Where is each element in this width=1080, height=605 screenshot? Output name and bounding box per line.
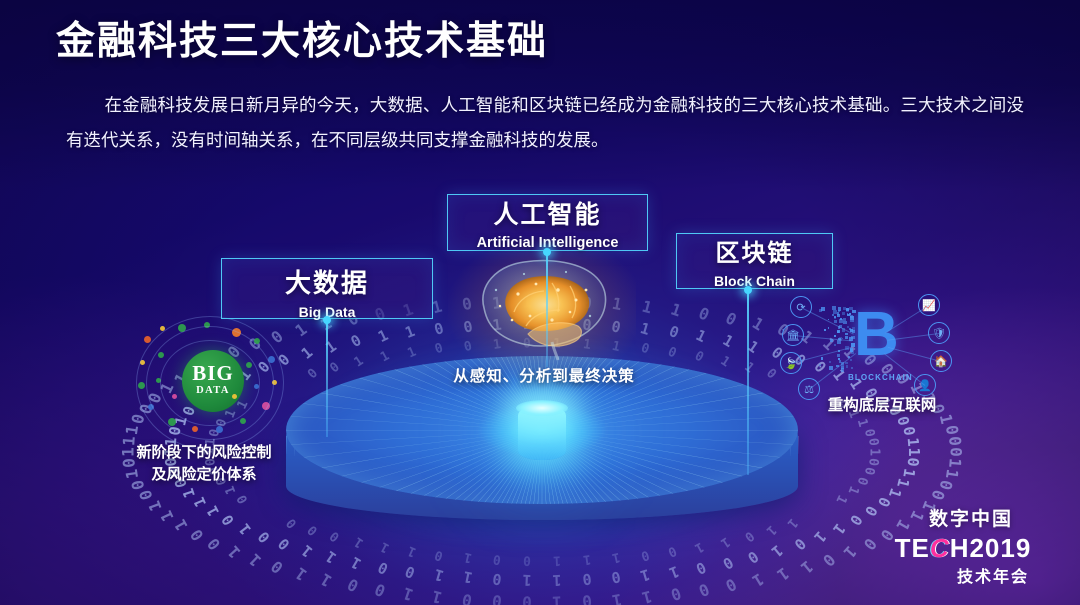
blockchain-pixel [832, 314, 834, 316]
blockchain-icon-cluster: B BLOCKCHAIN ⟳🏛🍃⚖📈🛡🏠👤 [796, 298, 952, 402]
blockchain-pixel [845, 362, 847, 364]
logo-tech-glitch-c: C [930, 533, 950, 563]
binary-digit: 1 [179, 485, 199, 499]
binary-digit: 0 [874, 494, 894, 509]
blockchain-pixel [829, 366, 833, 370]
blockchain-pixel [846, 308, 849, 311]
blockchain-pixel [837, 314, 840, 317]
logo-tech-2019: TECH2019 [888, 535, 1038, 561]
blockchain-pixel [838, 310, 840, 312]
blockchain-pixel [850, 320, 852, 322]
blockchain-pixel [821, 357, 823, 359]
label-ai-cn: 人工智能 [448, 203, 647, 228]
blockchain-pixel [834, 344, 836, 346]
disc-core-cap [516, 400, 568, 416]
connector-line-blockchain [747, 289, 749, 475]
binary-digit: 1 [156, 507, 177, 524]
binary-digit: 0 [947, 447, 966, 457]
binary-digit: 0 [928, 488, 949, 503]
slide-canvas: 1011100011010001100110110011100101110001… [0, 0, 1080, 605]
blockchain-pixel [819, 364, 821, 366]
label-box-artificial-intelligence[interactable]: 人工智能 Artificial Intelligence [447, 194, 648, 251]
big-data-orbit-ring [136, 316, 284, 450]
caption-block-chain: 重构底层互联网 [790, 395, 974, 417]
connector-line-ai [546, 251, 548, 367]
conference-logo: 数字中国 TECH2019 技术年会 [896, 504, 1046, 587]
connector-dot-blockchain [744, 286, 752, 294]
blockchain-pixel [837, 354, 839, 356]
label-block-chain-en: Block Chain [677, 274, 832, 288]
binary-digit: 1 [893, 476, 913, 489]
binary-digit: 1 [145, 498, 166, 514]
blockchain-pixel [821, 307, 825, 311]
binary-digit: 0 [941, 424, 961, 436]
brain-glow [448, 236, 636, 378]
blockchain-pixel [824, 329, 826, 331]
logo-tech-after: H2019 [950, 533, 1032, 563]
central-platform-disc [268, 356, 816, 586]
binary-digit: 1 [903, 436, 922, 446]
logo-line-annual-conference: 技术年会 [918, 563, 1068, 587]
caption-big-data-line2: 及风险定价体系 [106, 464, 302, 486]
blockchain-pixel [847, 326, 849, 328]
blockchain-pixel [834, 317, 836, 319]
bitcoin-b-glyph: B [854, 304, 899, 366]
body-paragraph: 在金融科技发展日新月异的今天，大数据、人工智能和区块链已经成为金融科技的三大核心… [66, 88, 1024, 158]
blockchain-link-line [809, 353, 856, 390]
binary-digit: 0 [945, 436, 965, 447]
blockchain-pixel [828, 327, 830, 329]
brain-icon [466, 250, 618, 362]
label-box-block-chain[interactable]: 区块链 Block Chain [676, 233, 833, 289]
blockchain-pixel [851, 367, 853, 369]
blockchain-pixel [837, 340, 841, 344]
blockchain-pixel [840, 318, 842, 320]
blockchain-pixel [834, 320, 836, 322]
label-big-data-cn: 大数据 [222, 270, 432, 296]
label-block-chain-cn: 区块链 [677, 242, 832, 266]
blockchain-wordmark: BLOCKCHAIN [848, 373, 913, 382]
connector-dot-ai [543, 248, 551, 256]
blockchain-pixel [838, 358, 840, 360]
blockchain-pixel [833, 310, 837, 314]
blockchain-pixel [843, 307, 846, 310]
caption-big-data: 新阶段下的风险控制 及风险定价体系 [106, 442, 302, 486]
binary-digit: 0 [900, 426, 919, 438]
blockchain-pixel [834, 335, 836, 337]
page-title: 金融科技三大核心技术基础 [56, 18, 548, 67]
blockchain-pixel [852, 310, 855, 313]
binary-digit: 1 [945, 457, 965, 468]
binary-digit: 1 [941, 468, 961, 480]
blockchain-pixel [846, 365, 849, 368]
disc-ray [542, 430, 797, 489]
label-box-big-data[interactable]: 大数据 Big Data [221, 258, 433, 319]
binary-digit: 1 [905, 447, 923, 456]
disc-rib [798, 436, 799, 454]
binary-digit: 1 [190, 494, 210, 509]
logo-line-digital-china: 数字中国 [896, 504, 1046, 531]
blockchain-pixel [847, 314, 850, 317]
big-data-icon-cluster: BIG DATA [136, 322, 284, 444]
blockchain-pixel [842, 312, 845, 315]
blockchain-pixel [843, 321, 846, 324]
disc-ray [542, 430, 798, 460]
binary-digit: 0 [936, 478, 957, 492]
blockchain-pixel [850, 315, 852, 317]
blockchain-pixel [845, 333, 847, 335]
blockchain-pixel [850, 348, 853, 351]
logo-tech-before: TE [895, 533, 930, 563]
binary-digit: 0 [186, 525, 207, 544]
caption-big-data-line1: 新阶段下的风险控制 [106, 442, 302, 464]
binary-digit: 1 [900, 467, 919, 479]
connector-line-big-data [326, 319, 328, 437]
binary-digit: 0 [903, 457, 922, 467]
blockchain-pixel [841, 366, 844, 369]
binary-digit: 1 [170, 517, 191, 535]
caption-ai: 从感知、分析到最终决策 [404, 366, 684, 388]
blockchain-pixel [850, 359, 852, 361]
blockchain-pixel [829, 361, 831, 363]
binary-digit: 1 [885, 485, 905, 499]
connector-dot-big-data [323, 316, 331, 324]
blockchain-pixel [837, 331, 839, 333]
binary-digit: 0 [135, 488, 156, 503]
